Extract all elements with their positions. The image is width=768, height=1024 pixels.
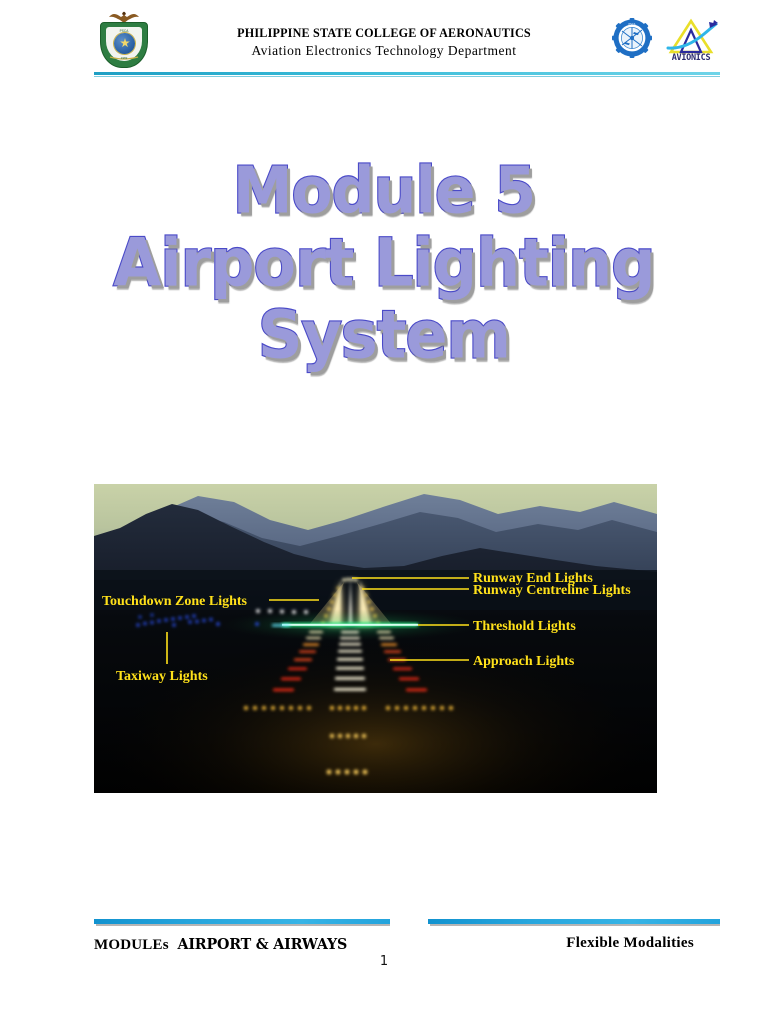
- avionics-logo: AVIONICS: [662, 18, 720, 62]
- footer-rule-left: [94, 919, 390, 924]
- footer-left: MODULEs AIRPORT & AIRWAYS: [94, 935, 351, 954]
- avionics-triangle-icon: [662, 18, 720, 56]
- department-name: Aviation Electronics Technology Departme…: [156, 42, 612, 59]
- page-number: 1: [0, 954, 768, 969]
- header-logos: PSCA AVIONICS: [612, 8, 720, 62]
- runway-night-photo: Runway End Lights Runway Centreline Ligh…: [94, 484, 657, 793]
- shield-inner: PSCA 1969: [106, 27, 142, 61]
- header-titles: PHILIPPINE STATE COLLEGE OF AERONAUTICS …: [156, 8, 612, 59]
- footer-divider: [94, 919, 720, 927]
- footer-module-label: MODULEs: [94, 937, 169, 953]
- label-approach-lights: Approach Lights: [473, 654, 575, 669]
- airport-lighting-diagram: Runway End Lights Runway Centreline Ligh…: [94, 484, 657, 793]
- psca-crest-logo: PSCA 1969: [94, 8, 156, 70]
- footer-course-label: AIRPORT & AIRWAYS: [177, 935, 347, 953]
- svg-text:1969: 1969: [121, 56, 128, 60]
- title-line-2: Airport Lighting: [60, 224, 708, 301]
- title-line-3: System: [60, 296, 708, 373]
- college-name: PHILIPPINE STATE COLLEGE OF AERONAUTICS: [163, 26, 605, 41]
- header-divider-thin: [94, 76, 720, 77]
- svg-text:PSCA: PSCA: [120, 29, 130, 33]
- header-divider-thick: [94, 72, 720, 75]
- page-title: Module 5 Airport Lighting System: [60, 155, 708, 371]
- header-divider: [94, 72, 720, 78]
- crest-details: PSCA 1969: [106, 27, 142, 61]
- svg-text:PSCA: PSCA: [628, 22, 635, 26]
- shield-shape: PSCA 1969: [100, 22, 148, 68]
- label-taxiway-lights: Taxiway Lights: [116, 669, 208, 684]
- gear-icon: PSCA: [612, 18, 652, 58]
- footer-rule-right: [428, 919, 720, 924]
- gear-seal-logo: PSCA: [612, 18, 652, 58]
- title-line-1: Module 5: [60, 152, 708, 229]
- avionics-wordmark: AVIONICS: [662, 53, 720, 63]
- footer-right-label: Flexible Modalities: [566, 935, 694, 952]
- label-touchdown-zone-lights: Touchdown Zone Lights: [102, 594, 248, 609]
- label-threshold-lights: Threshold Lights: [473, 619, 576, 634]
- crest-icon: PSCA 1969: [100, 22, 148, 68]
- page-header: PSCA 1969 PHILIPPINE STATE COLLEGE OF AE…: [94, 8, 720, 70]
- document-page: PSCA 1969 PHILIPPINE STATE COLLEGE OF AE…: [0, 0, 768, 1024]
- label-runway-centreline-lights: Runway Centreline Lights: [473, 583, 631, 598]
